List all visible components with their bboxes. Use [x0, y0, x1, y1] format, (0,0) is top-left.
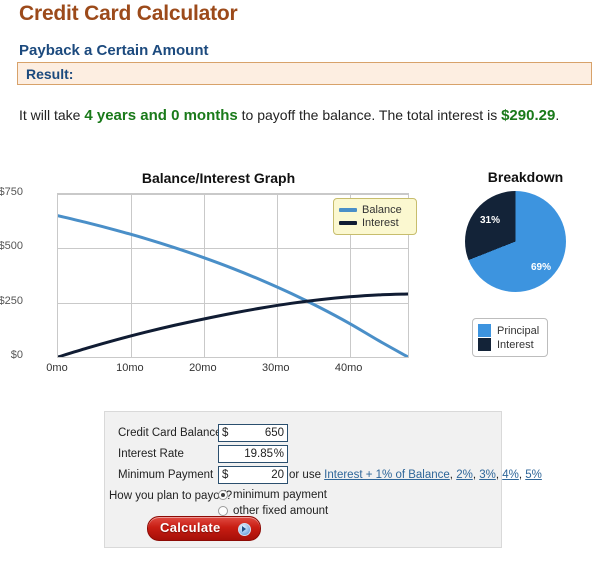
- result-duration: 4 years and 0 months: [84, 107, 237, 124]
- x-axis-tick-label: 20mo: [173, 362, 233, 374]
- value-minimum-payment: 20: [271, 469, 284, 481]
- page-subtitle: Payback a Certain Amount: [19, 42, 209, 59]
- result-middle-text: to payoff the balance. The total interes…: [238, 107, 501, 123]
- input-minimum-payment[interactable]: $ 20: [218, 466, 288, 484]
- legend-label: Interest: [362, 217, 399, 229]
- pie-chart-title: Breakdown: [440, 169, 611, 185]
- pie-legend-label: Interest: [497, 339, 534, 351]
- result-sentence: It will take 4 years and 0 months to pay…: [19, 105, 599, 126]
- result-banner: Result:: [17, 62, 592, 85]
- x-axis-tick-label: 10mo: [100, 362, 160, 374]
- calculate-button[interactable]: Calculate: [147, 516, 261, 541]
- pie-legend-swatch-icon: [478, 338, 491, 351]
- result-total-interest: $290.29: [501, 107, 555, 124]
- label-interest-rate: Interest Rate: [118, 448, 184, 460]
- value-interest-rate: 19.85: [244, 448, 273, 460]
- pie-legend-item-principal: Principal: [478, 324, 539, 337]
- y-axis-tick-label: $250: [0, 295, 23, 307]
- y-axis-tick-label: $500: [0, 240, 23, 252]
- minimum-payment-link-2[interactable]: 2%: [456, 469, 473, 481]
- legend-label: Balance: [362, 204, 402, 216]
- pie-graphic: [465, 191, 566, 292]
- breakdown-chart: Breakdown 31% 69% PrincipalInterest: [440, 165, 611, 375]
- pie-legend-item-interest: Interest: [478, 338, 539, 351]
- calculator-form-panel: Credit Card Balance $ 650 Interest Rate …: [104, 411, 502, 548]
- minimum-payment-link-1[interactable]: Interest + 1% of Balance: [324, 469, 450, 481]
- legend-item-balance: Balance: [339, 204, 411, 216]
- value-credit-card-balance: 650: [265, 427, 284, 439]
- minimum-payment-hint: or use Interest + 1% of Balance, 2%, 3%,…: [289, 469, 542, 481]
- x-axis-tick-label: 0mo: [27, 362, 87, 374]
- label-payoff-question: How you plan to payoff?: [109, 490, 232, 502]
- pie-legend-swatch-icon: [478, 324, 491, 337]
- result-suffix-text: .: [555, 107, 559, 123]
- y-axis-tick-label: $750: [0, 186, 23, 198]
- currency-prefix-minimum-payment: $: [222, 469, 228, 481]
- x-axis-tick-label: 40mo: [319, 362, 379, 374]
- calculate-button-label: Calculate: [160, 520, 221, 535]
- input-interest-rate[interactable]: 19.85 %: [218, 445, 288, 463]
- y-axis-tick-label: $0: [0, 349, 23, 361]
- pie-slice-label-interest: 31%: [480, 215, 500, 226]
- legend-item-interest: Interest: [339, 217, 411, 229]
- series-line-balance: [58, 216, 408, 357]
- currency-prefix-balance: $: [222, 427, 228, 439]
- label-minimum-payment: Minimum Payment: [118, 469, 213, 481]
- label-credit-card-balance: Credit Card Balance: [118, 427, 222, 439]
- radio-minimum-payment[interactable]: minimum payment: [218, 489, 327, 501]
- page-title: Credit Card Calculator: [19, 2, 237, 26]
- balance-interest-chart: Balance/Interest Graph $0$250$500$750 0m…: [0, 165, 437, 370]
- line-chart-legend: BalanceInterest: [333, 198, 417, 235]
- result-prefix-text: It will take: [19, 107, 84, 123]
- legend-swatch-icon: [339, 208, 357, 212]
- minimum-payment-hint-prefix: or use: [289, 469, 324, 481]
- pie-legend-label: Principal: [497, 325, 539, 337]
- result-label: Result:: [26, 66, 73, 82]
- radio-label-minimum-payment: minimum payment: [233, 489, 327, 501]
- minimum-payment-link-4[interactable]: 4%: [502, 469, 519, 481]
- radio-dot-other-fixed-amount: [218, 506, 228, 516]
- pie-chart-legend: PrincipalInterest: [472, 318, 548, 357]
- percent-suffix-interest-rate: %: [274, 448, 284, 460]
- play-arrow-icon: [238, 523, 251, 536]
- radio-dot-minimum-payment: [218, 490, 228, 500]
- pie-slice-label-principal: 69%: [531, 262, 551, 273]
- x-axis-tick-label: 30mo: [246, 362, 306, 374]
- minimum-payment-link-3[interactable]: 3%: [479, 469, 496, 481]
- minimum-payment-link-5[interactable]: 5%: [525, 469, 542, 481]
- legend-swatch-icon: [339, 221, 357, 225]
- line-chart-title: Balance/Interest Graph: [0, 170, 437, 186]
- input-credit-card-balance[interactable]: $ 650: [218, 424, 288, 442]
